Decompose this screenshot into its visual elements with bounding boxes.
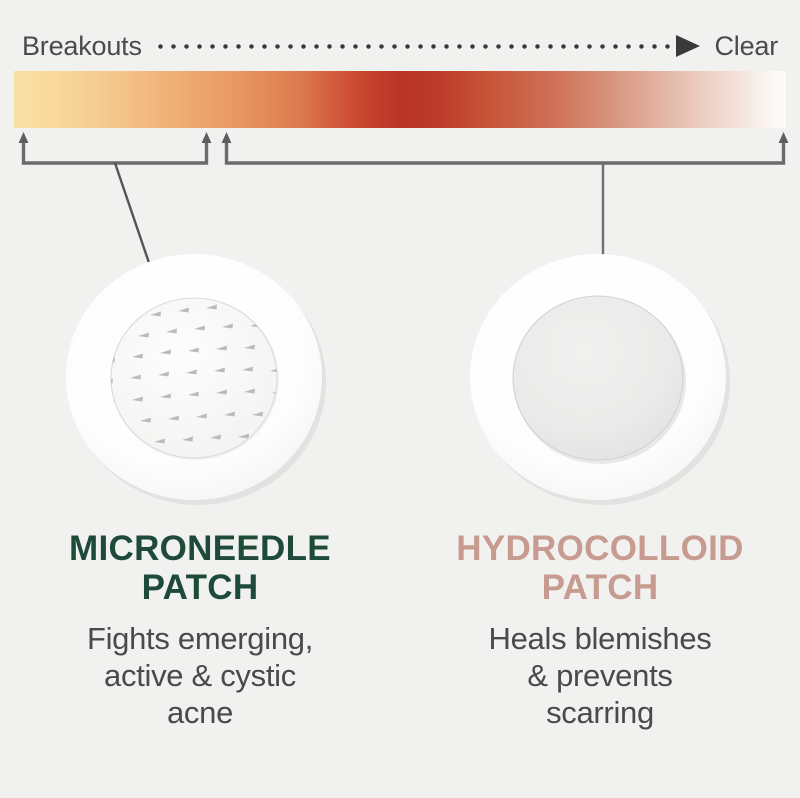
patch-illustration-row	[0, 248, 800, 513]
patch-title-line2: PATCH	[18, 569, 382, 608]
bracket-left-arrow-end-icon	[202, 132, 212, 143]
caption-row: MICRONEEDLE PATCH Fights emerging, activ…	[0, 530, 800, 798]
bracket-right-arrow-end-icon	[779, 132, 789, 143]
acne-patch-comparison-infographic: Breakouts Clear	[0, 0, 800, 798]
hydrocolloid-patch-icon	[462, 248, 734, 506]
patch-description-hydrocolloid: Heals blemishes & prevents scarring	[418, 620, 782, 732]
microneedle-patch-illustration	[58, 248, 330, 506]
patch-title-line1: MICRONEEDLE	[18, 530, 382, 569]
scale-label-breakouts: Breakouts	[22, 33, 142, 60]
patch-title-microneedle: MICRONEEDLE PATCH	[18, 530, 382, 608]
caption-microneedle: MICRONEEDLE PATCH Fights emerging, activ…	[0, 530, 400, 798]
bracket-left-arrow-start-icon	[19, 132, 29, 143]
severity-scale-header: Breakouts Clear	[0, 26, 800, 66]
patch-title-line1: HYDROCOLLOID	[418, 530, 782, 569]
patch-title-line2: PATCH	[418, 569, 782, 608]
arrow-head-icon	[676, 35, 700, 57]
patch-desc-line3: acne	[18, 694, 382, 731]
patch-desc-line1: Fights emerging,	[18, 620, 382, 657]
patch-description-microneedle: Fights emerging, active & cystic acne	[18, 620, 382, 732]
severity-gradient-bar	[14, 71, 786, 128]
patch-title-hydrocolloid: HYDROCOLLOID PATCH	[418, 530, 782, 608]
patch-desc-line2: & prevents	[418, 657, 782, 694]
patch-desc-line3: scarring	[418, 694, 782, 731]
dotted-right-arrow-icon	[158, 39, 701, 53]
bracket-group	[0, 130, 800, 170]
bracket-right	[227, 140, 784, 163]
caption-hydrocolloid: HYDROCOLLOID PATCH Heals blemishes & pre…	[400, 530, 800, 798]
scale-label-clear: Clear	[714, 33, 778, 60]
bracket-left	[24, 140, 207, 163]
patch-desc-line1: Heals blemishes	[418, 620, 782, 657]
microneedle-patch-icon	[58, 248, 330, 506]
dotted-line	[158, 44, 678, 49]
hydrocolloid-patch-illustration	[462, 248, 734, 506]
bracket-right-arrow-start-icon	[222, 132, 232, 143]
patch-desc-line2: active & cystic	[18, 657, 382, 694]
